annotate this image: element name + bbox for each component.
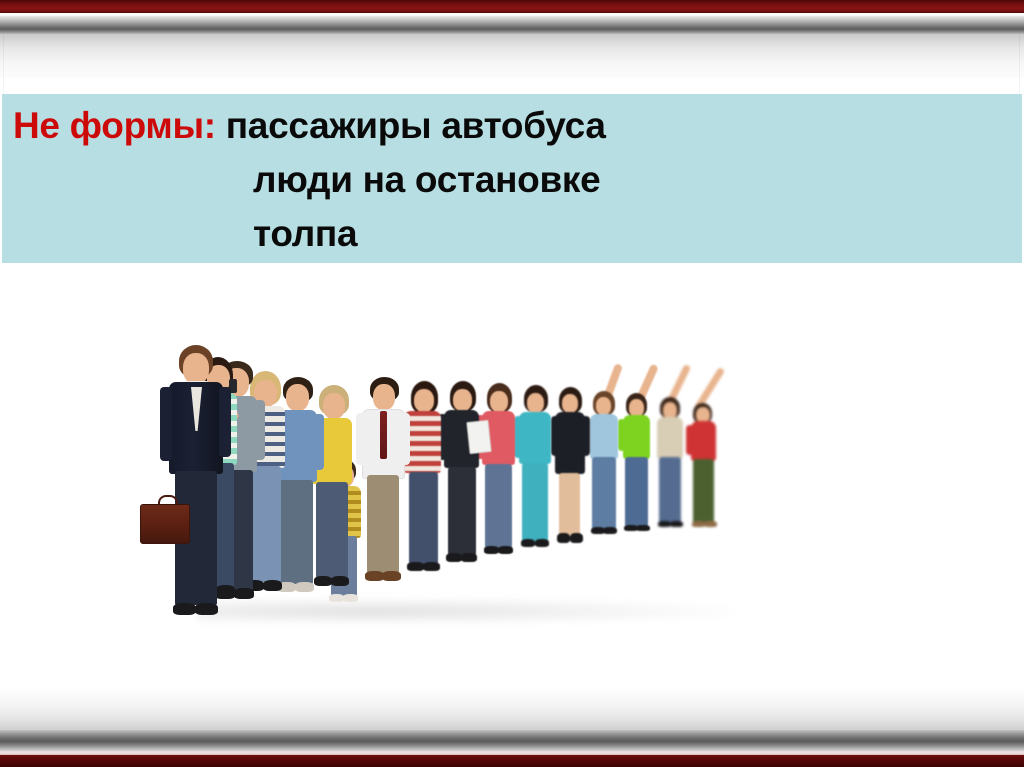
title-line-1-black: пассажиры автобуса bbox=[216, 105, 606, 146]
slide: Не формы: пассажиры автобуса люди на ост… bbox=[0, 0, 1024, 767]
crowd-photo bbox=[187, 311, 757, 631]
title-line-3-black: толпа bbox=[253, 213, 357, 254]
title-text-block: Не формы: пассажиры автобуса люди на ост… bbox=[13, 99, 1018, 261]
title-line-3: толпа bbox=[13, 207, 1018, 261]
photo-area bbox=[2, 263, 1022, 690]
frame-top-red-band bbox=[0, 0, 1024, 13]
frame-top-fade bbox=[0, 34, 1024, 78]
frame-bottom-metal-stripe bbox=[0, 730, 1024, 751]
title-line-2-black: люди на остановке bbox=[253, 159, 600, 200]
papers-held bbox=[466, 420, 491, 454]
title-line-1-red: Не формы: bbox=[13, 105, 216, 146]
title-line-2: люди на остановке bbox=[13, 153, 1018, 207]
briefcase bbox=[140, 504, 190, 544]
person-businesswoman-with-briefcase bbox=[155, 345, 227, 631]
frame-bottom-fade bbox=[0, 690, 1024, 730]
title-band: Не формы: пассажиры автобуса люди на ост… bbox=[2, 94, 1022, 263]
necktie bbox=[380, 411, 387, 459]
frame-top-metal-stripe bbox=[0, 16, 1024, 34]
title-line-1: Не формы: пассажиры автобуса bbox=[13, 99, 1018, 153]
frame-bottom-red-band bbox=[0, 755, 1024, 767]
